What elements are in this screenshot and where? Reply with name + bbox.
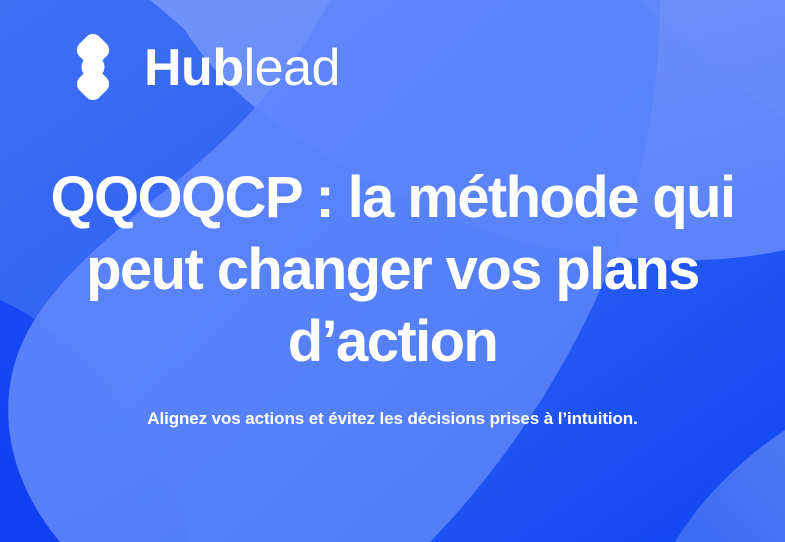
page-title-line-1: QQOQCP : la méthode qui (40, 162, 745, 234)
banner-content: Hub lead QQOQCP : la méthode qui peut ch… (0, 0, 785, 542)
hublead-logo-mark-icon (60, 34, 126, 100)
page-title-line-3: d’action (40, 306, 745, 378)
logo-wordmark: Hub lead (144, 42, 340, 94)
logo-lockup[interactable]: Hub lead (60, 34, 340, 100)
page-title: QQOQCP : la méthode qui peut changer vos… (0, 162, 785, 378)
logo-word-hub: Hub (144, 42, 244, 94)
page-subtitle: Alignez vos actions et évitez les décisi… (0, 406, 785, 432)
hublead-promo-banner: Hub lead QQOQCP : la méthode qui peut ch… (0, 0, 785, 542)
page-title-line-2: peut changer vos plans (40, 234, 745, 306)
logo-word-lead: lead (244, 42, 340, 94)
